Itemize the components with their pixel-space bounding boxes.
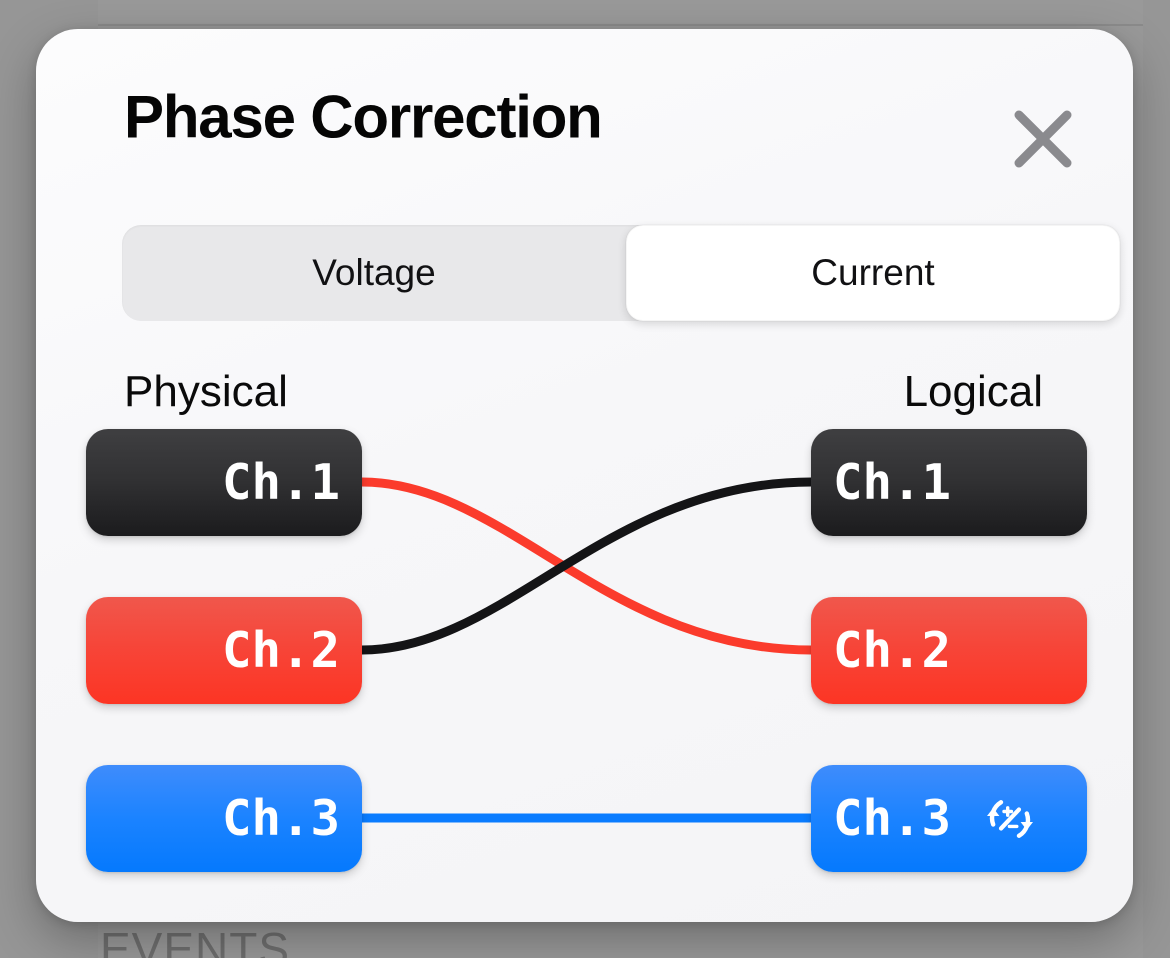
logical-channel-1[interactable]: Ch.1	[811, 429, 1087, 536]
wire-physical1-to-logical2	[362, 482, 811, 650]
segment-voltage[interactable]: Voltage	[122, 225, 626, 321]
wire-physical2-to-logical1	[362, 482, 811, 650]
physical-channel-1-label: Ch.1	[222, 454, 340, 511]
close-button[interactable]	[991, 87, 1095, 191]
logical-channel-2[interactable]: Ch.2	[811, 597, 1087, 704]
logical-channel-3-label: Ch.3	[833, 790, 951, 847]
mode-segmented-control[interactable]: Voltage Current	[122, 225, 1120, 321]
background-events-label: EVENTS	[100, 922, 290, 958]
logical-channel-2-label: Ch.2	[833, 622, 951, 679]
physical-channel-2[interactable]: Ch.2	[86, 597, 362, 704]
physical-channel-2-label: Ch.2	[222, 622, 340, 679]
phase-correction-dialog: Phase Correction Voltage Current Physica…	[36, 29, 1133, 922]
physical-channel-3[interactable]: Ch.3	[86, 765, 362, 872]
logical-column-caption: Logical	[904, 367, 1043, 417]
physical-column-caption: Physical	[124, 367, 288, 417]
logical-channel-1-label: Ch.1	[833, 454, 951, 511]
screen: EVENTS Phase Correction Voltage Curre	[0, 0, 1170, 958]
background-divider	[98, 24, 1143, 26]
physical-channel-1[interactable]: Ch.1	[86, 429, 362, 536]
physical-channel-3-label: Ch.3	[222, 790, 340, 847]
close-x-icon	[1011, 107, 1075, 171]
segment-current[interactable]: Current	[626, 225, 1120, 321]
page-title: Phase Correction	[124, 83, 602, 152]
polarity-swap-icon[interactable]	[981, 790, 1039, 848]
dialog-header: Phase Correction	[36, 29, 1133, 205]
logical-channel-3[interactable]: Ch.3	[811, 765, 1087, 872]
